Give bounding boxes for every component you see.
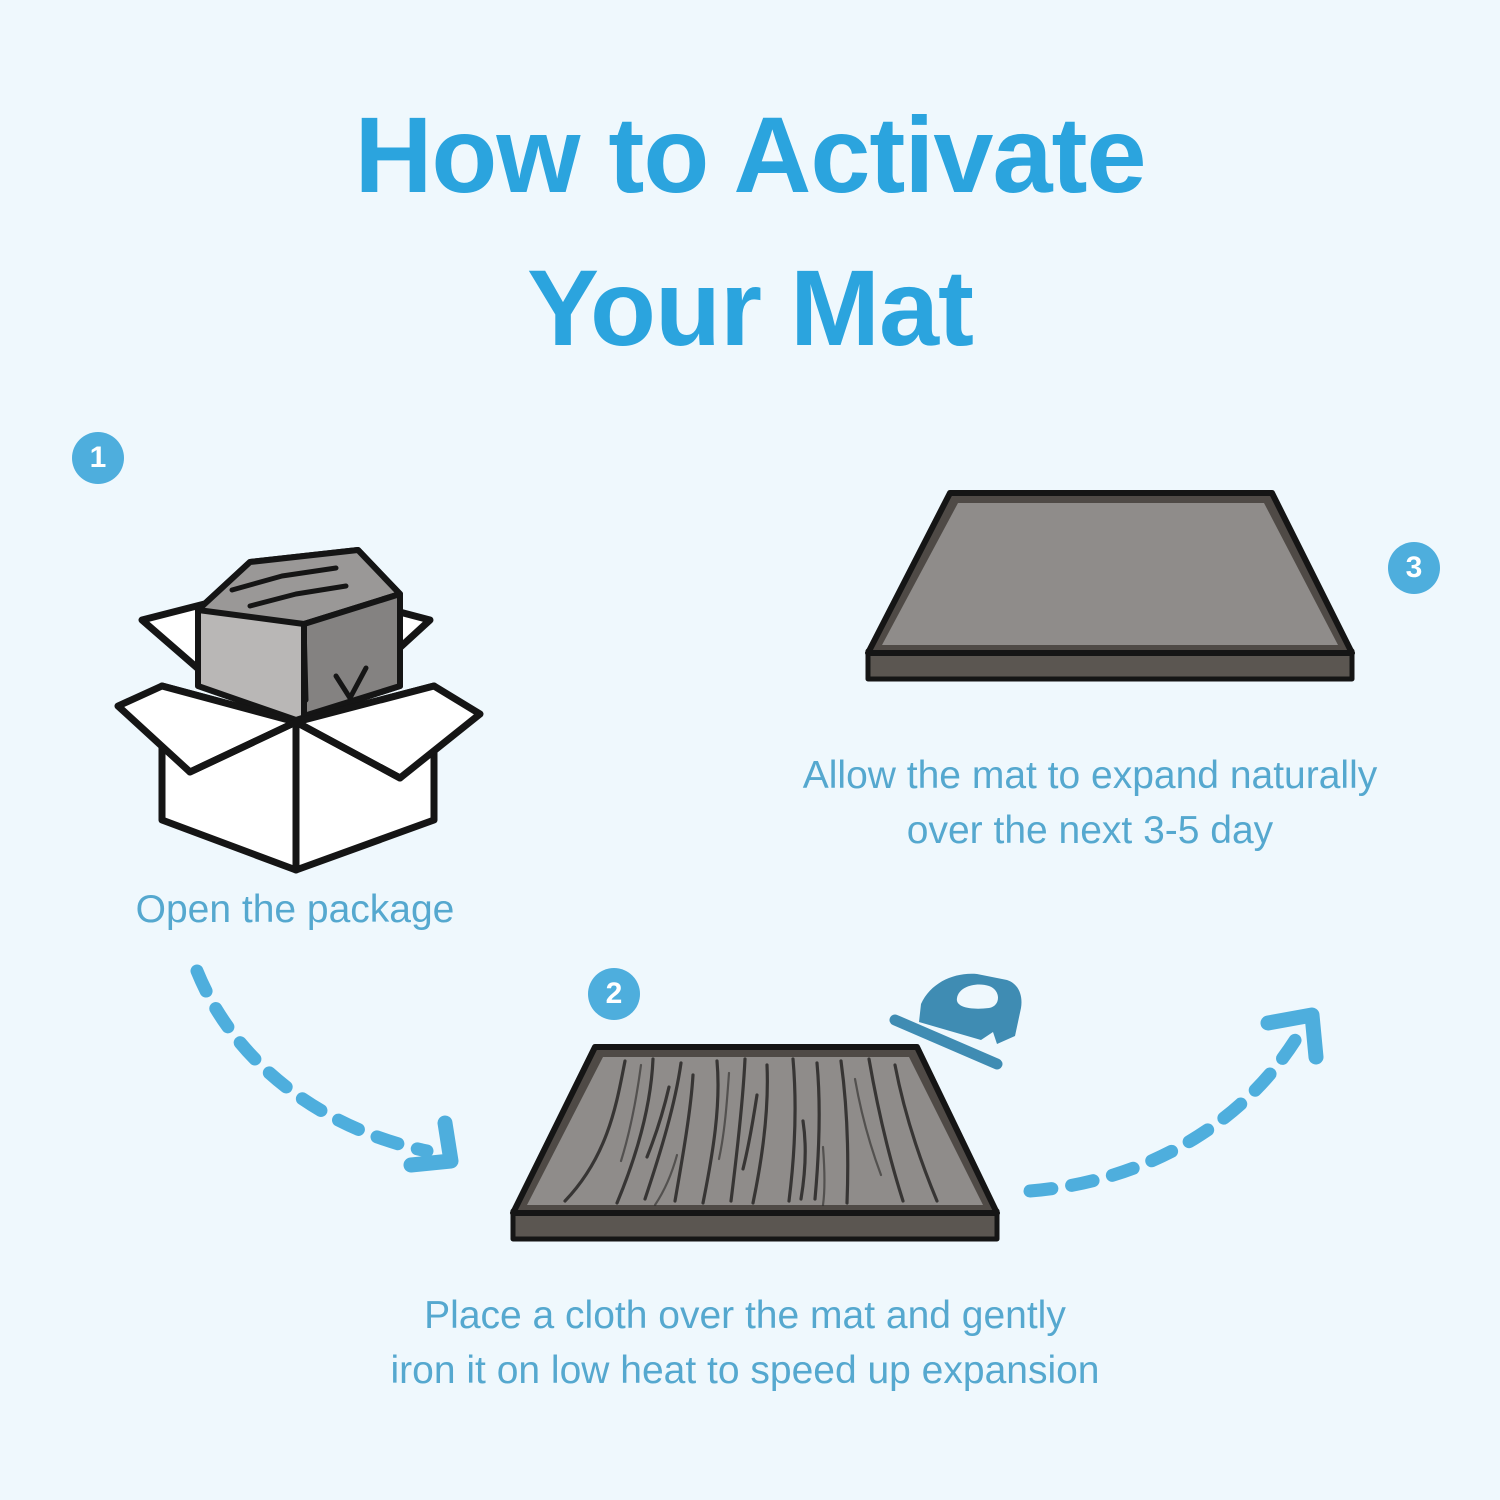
step-1-caption: Open the package	[30, 882, 560, 937]
step-badge-3: 3	[1388, 542, 1440, 594]
step-2-caption-line-2: iron it on low heat to speed up expansio…	[230, 1343, 1260, 1398]
infographic-canvas: How to Activate Your Mat 1	[0, 0, 1500, 1500]
flat-mat-icon	[860, 485, 1360, 700]
dashed-curved-arrow-down-right-icon	[175, 955, 505, 1195]
wrinkled-mat-illustration	[505, 1035, 1005, 1260]
flow-arrow-step1-to-step2	[175, 955, 505, 1195]
flat-mat-illustration	[860, 485, 1360, 700]
flow-arrow-step2-to-step3	[1010, 995, 1350, 1215]
open-box-illustration	[100, 490, 500, 880]
step-1-caption-line-1: Open the package	[30, 882, 560, 937]
page-title-line-2: Your Mat	[0, 231, 1500, 384]
open-box-icon	[100, 490, 500, 880]
step-3-caption-line-2: over the next 3-5 day	[680, 803, 1500, 858]
step-3-caption: Allow the mat to expand naturally over t…	[680, 748, 1500, 859]
step-badge-1: 1	[72, 432, 124, 484]
step-2-caption-line-1: Place a cloth over the mat and gently	[230, 1288, 1260, 1343]
wrinkled-mat-icon	[505, 1035, 1005, 1260]
dashed-curved-arrow-up-right-icon	[1010, 995, 1350, 1215]
step-badge-2: 2	[588, 968, 640, 1020]
step-3-caption-line-1: Allow the mat to expand naturally	[680, 748, 1500, 803]
step-2-caption: Place a cloth over the mat and gently ir…	[230, 1288, 1260, 1399]
page-title-line-1: How to Activate	[0, 78, 1500, 231]
page-title: How to Activate Your Mat	[0, 78, 1500, 385]
